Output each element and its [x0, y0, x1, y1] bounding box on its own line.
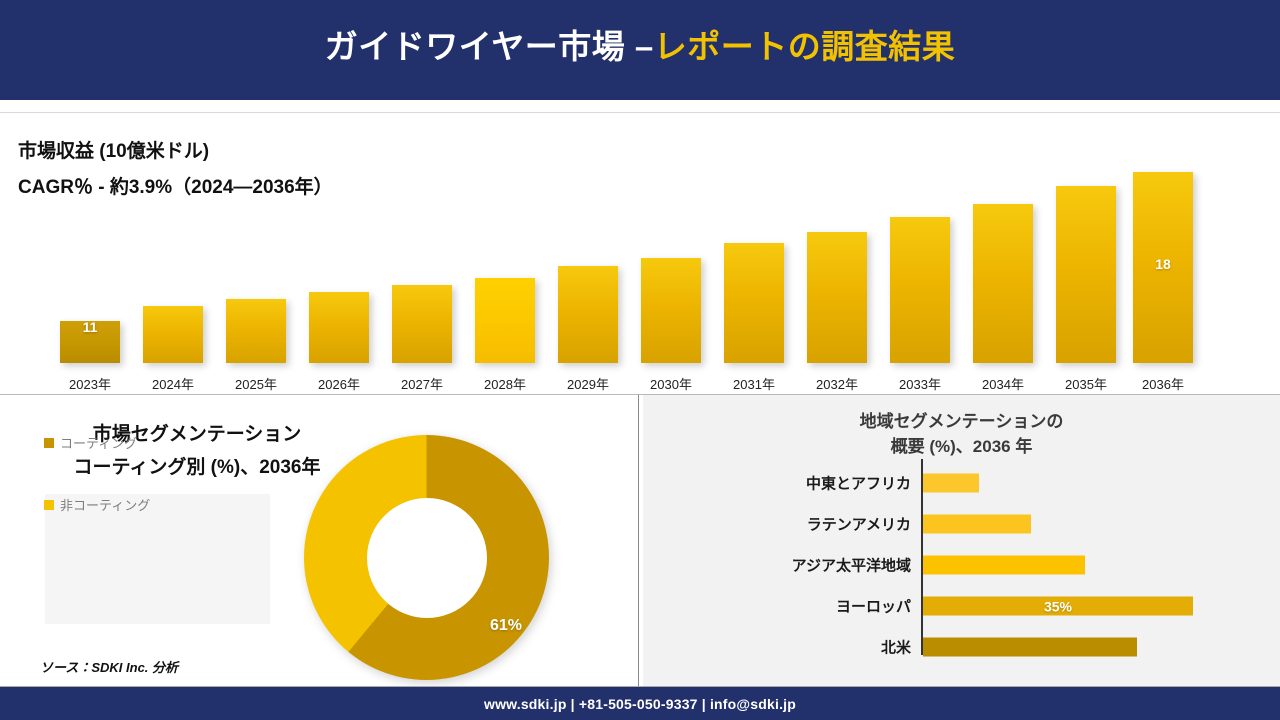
bar-label-2036: 2036年 [1126, 374, 1200, 393]
bar-2036[interactable]: 18 [1133, 172, 1193, 363]
page-title-accent: レポートの調査結果 [654, 28, 956, 65]
regional-title-line2: 概要 (%)、2036 年 [643, 432, 1280, 457]
regional-label-asia-pacific: アジア太平洋地域 [643, 555, 911, 576]
regional-bar-latin-america[interactable] [923, 515, 1031, 534]
regional-row-middle-east-africa[interactable]: 中東とアフリカ [643, 464, 1280, 502]
bar-group-2034[interactable]: 2034年 [973, 204, 1033, 363]
regional-bar-value-europe: 35% [923, 598, 1193, 614]
regional-bar-middle-east-africa[interactable] [923, 474, 979, 493]
market-revenue-chart: 市場収益 (10億米ドル) CAGR％ - 約3.9%（2024―2036年） … [0, 113, 1280, 394]
panel-divider-vertical [638, 395, 639, 686]
bar-value-2036: 18 [1133, 256, 1193, 272]
bar-2029[interactable] [558, 266, 618, 363]
bar-group-2033[interactable]: 2033年 [890, 217, 950, 363]
bar-group-2030[interactable]: 2030年 [641, 258, 701, 363]
legend-item-non-coating[interactable]: 非コーティング [44, 495, 150, 514]
page-title-primary: ガイドワイヤー市場 – [325, 28, 654, 65]
legend-label-non-coating: 非コーティング [60, 495, 150, 514]
header-underline [0, 100, 1280, 113]
bar-group-2036[interactable]: 18 2036年 [1133, 172, 1193, 363]
bar-group-2029[interactable]: 2029年 [558, 266, 618, 363]
bar-label-2033: 2033年 [883, 374, 957, 393]
bar-label-2031: 2031年 [717, 374, 791, 393]
bar-group-2028[interactable]: 2028年 [475, 278, 535, 363]
legend-swatch-icon-non-coating [44, 500, 54, 510]
bar-label-2028: 2028年 [468, 374, 542, 393]
bar-group-2023[interactable]: 11 2023年 [60, 321, 120, 363]
bar-2027[interactable] [392, 285, 452, 363]
regional-bar-asia-pacific[interactable] [923, 556, 1085, 575]
legend-label-coating: コーティング [60, 433, 137, 452]
regional-label-middle-east-africa: 中東とアフリカ [643, 473, 911, 494]
segmentation-panel: 市場セグメンテーション コーティング別 (%)、2036年 コーティング 非コー… [0, 395, 638, 686]
bar-2033[interactable] [890, 217, 950, 363]
revenue-bars: 11 2023年 2024年 2025年 2026年 2027年 [0, 113, 1280, 394]
regional-row-latin-america[interactable]: ラテンアメリカ [643, 505, 1280, 543]
donut-value-label: 61% [490, 617, 522, 635]
bar-value-2023: 11 [60, 319, 120, 335]
bar-2034[interactable] [973, 204, 1033, 363]
regional-row-europe[interactable]: ヨーロッパ 35% [643, 587, 1280, 625]
regional-label-europe: ヨーロッパ [643, 596, 911, 617]
bar-group-2026[interactable]: 2026年 [309, 292, 369, 363]
footer-banner: www.sdki.jp | +81-505-050-9337 | info@sd… [0, 687, 1280, 720]
bar-label-2023: 2023年 [53, 374, 127, 393]
bar-label-2027: 2027年 [385, 374, 459, 393]
bar-group-2035[interactable]: 2035年 [1056, 186, 1116, 363]
bar-2026[interactable] [309, 292, 369, 363]
footer-contact-text: www.sdki.jp | +81-505-050-9337 | info@sd… [484, 696, 796, 712]
bar-label-2034: 2034年 [966, 374, 1040, 393]
regional-bar-north-america[interactable] [923, 638, 1137, 657]
bar-group-2032[interactable]: 2032年 [807, 232, 867, 363]
bar-2032[interactable] [807, 232, 867, 363]
regional-row-asia-pacific[interactable]: アジア太平洋地域 [643, 546, 1280, 584]
donut-hole [367, 498, 487, 618]
bar-label-2026: 2026年 [302, 374, 376, 393]
regional-bar-europe[interactable]: 35% [923, 597, 1193, 616]
bar-2023[interactable]: 11 [60, 321, 120, 363]
page-title: ガイドワイヤー市場 –レポートの調査結果 [0, 24, 1280, 70]
regional-label-north-america: 北米 [643, 637, 911, 658]
regional-row-north-america[interactable]: 北米 [643, 628, 1280, 666]
regional-label-latin-america: ラテンアメリカ [643, 514, 911, 535]
coating-donut-chart[interactable]: 61% [304, 435, 549, 680]
bar-label-2030: 2030年 [634, 374, 708, 393]
legend-swatch-icon-coating [44, 438, 54, 448]
bar-2028[interactable] [475, 278, 535, 363]
bar-label-2025: 2025年 [219, 374, 293, 393]
bar-label-2035: 2035年 [1049, 374, 1123, 393]
legend-item-coating[interactable]: コーティング [44, 433, 137, 452]
bar-label-2032: 2032年 [800, 374, 874, 393]
bar-group-2027[interactable]: 2027年 [392, 285, 452, 363]
infographic-page: ガイドワイヤー市場 –レポートの調査結果 市場収益 (10億米ドル) CAGR％… [0, 0, 1280, 720]
source-note: ソース：SDKI Inc. 分析 [40, 657, 178, 676]
bar-label-2029: 2029年 [551, 374, 625, 393]
bar-2035[interactable] [1056, 186, 1116, 363]
bar-group-2024[interactable]: 2024年 [143, 306, 203, 363]
bar-group-2025[interactable]: 2025年 [226, 299, 286, 363]
bar-label-2024: 2024年 [136, 374, 210, 393]
bar-group-2031[interactable]: 2031年 [724, 243, 784, 363]
segmentation-title-line2: コーティング別 (%)、2036年 [42, 452, 352, 479]
bar-2025[interactable] [226, 299, 286, 363]
bar-2031[interactable] [724, 243, 784, 363]
bar-2024[interactable] [143, 306, 203, 363]
regional-panel: 地域セグメンテーションの 概要 (%)、2036 年 中東とアフリカ ラテンアメ… [643, 395, 1280, 686]
bar-2030[interactable] [641, 258, 701, 363]
regional-title-line1: 地域セグメンテーションの [643, 407, 1280, 432]
